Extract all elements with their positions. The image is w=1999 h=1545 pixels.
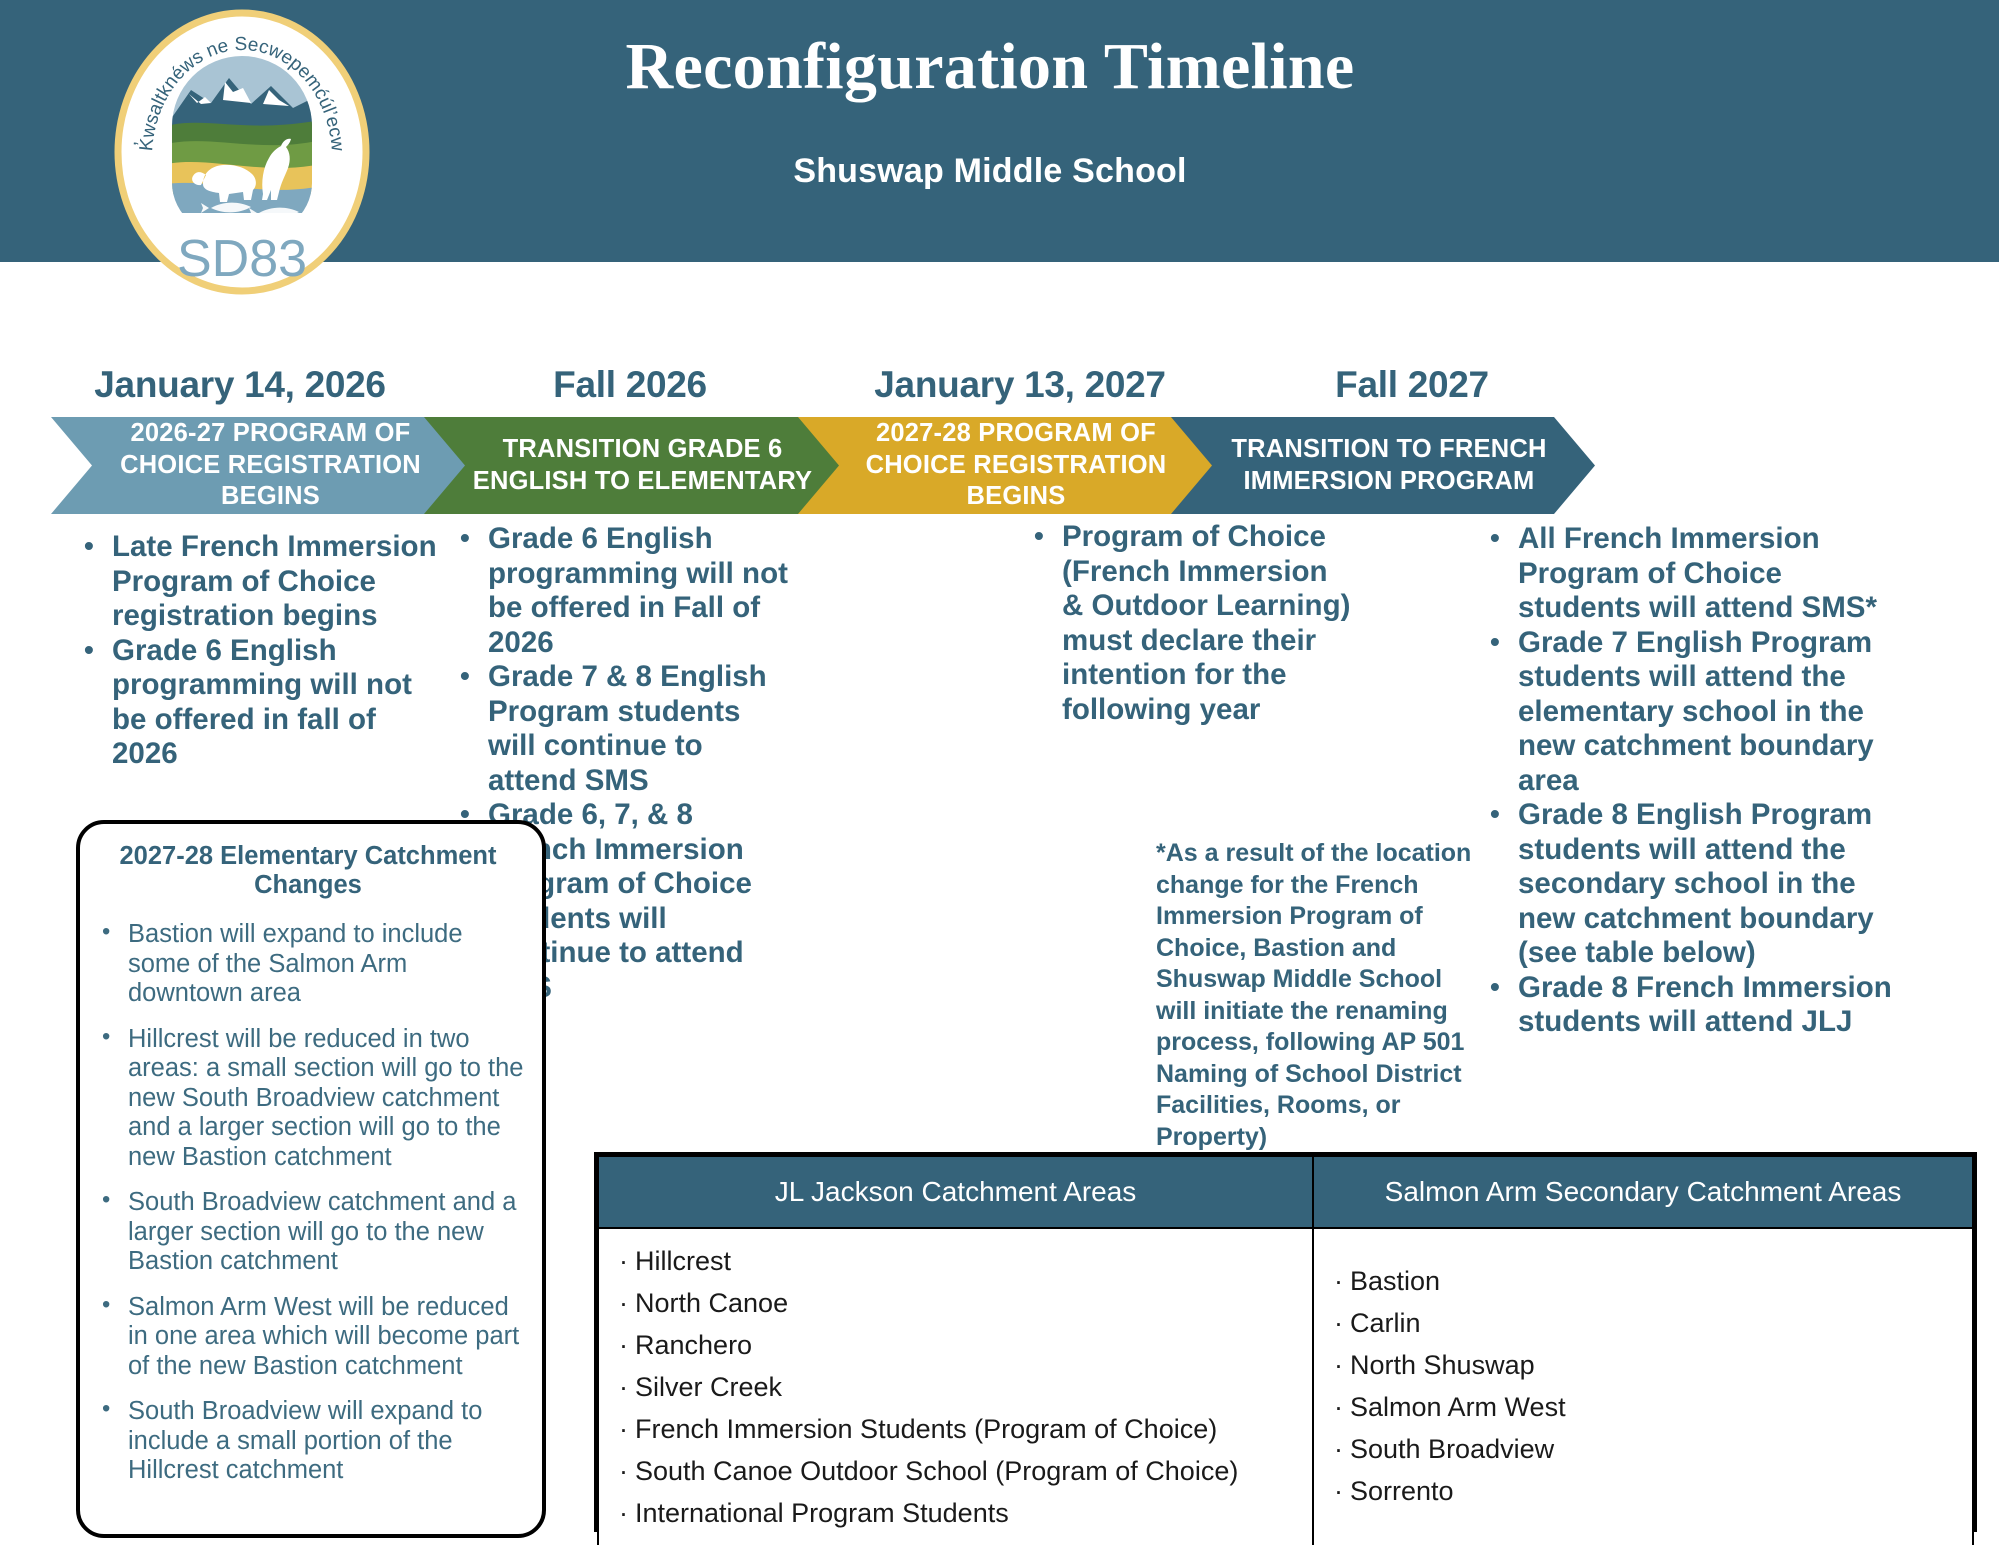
list-item: Program of Choice (French Immersion & Ou… xyxy=(1026,520,1356,727)
timeline-date-0: January 14, 2026 xyxy=(50,364,430,406)
timeline-banner-3[interactable]: TRANSITION TO FRENCH IMMERSION PROGRAM xyxy=(1171,417,1595,514)
sd83-logo: K̓wsaltknéws ne Secwepemćúl’ecw SD83 xyxy=(111,8,373,296)
list-item: South Broadview will expand to include a… xyxy=(88,1397,528,1486)
infographic-page: Reconfiguration Timeline Shuswap Middle … xyxy=(0,0,1999,1545)
list-item: ·North Canoe xyxy=(619,1287,1292,1319)
table-header-salmon-arm-secondary: Salmon Arm Secondary Catchment Areas xyxy=(1313,1156,1973,1228)
bullet-dot-icon: · xyxy=(619,1330,628,1360)
bullet-dot-icon: · xyxy=(1334,1266,1343,1296)
bullet-dot-icon: · xyxy=(1334,1476,1343,1506)
bullet-dot-icon: · xyxy=(1334,1434,1343,1464)
list-item: Grade 7 & 8 English Program students wil… xyxy=(452,660,792,798)
bullet-dot-icon: · xyxy=(1334,1350,1343,1380)
timeline-date-1: Fall 2026 xyxy=(440,364,820,406)
stage-2-bullets: Program of Choice (French Immersion & Ou… xyxy=(1026,520,1356,727)
timeline-banner-label-2: 2027-28 PROGRAM OF CHOICE REGISTRATION B… xyxy=(798,418,1222,513)
list-item: ·International Program Students xyxy=(619,1497,1292,1529)
bullet-dot-icon: · xyxy=(1334,1392,1343,1422)
timeline-banner-label-3: TRANSITION TO FRENCH IMMERSION PROGRAM xyxy=(1171,434,1595,497)
bullet-dot-icon: · xyxy=(619,1288,628,1318)
list-item: Grade 6 English programming will not be … xyxy=(76,634,448,772)
list-item: ·French Immersion Students (Program of C… xyxy=(619,1413,1292,1445)
list-item: Salmon Arm West will be reduced in one a… xyxy=(88,1293,528,1382)
list-item: Bastion will expand to include some of t… xyxy=(88,920,528,1009)
catchment-areas-table: JL Jackson Catchment Areas Salmon Arm Se… xyxy=(594,1152,1977,1532)
list-item: ·Silver Creek xyxy=(619,1371,1292,1403)
bullet-dot-icon: · xyxy=(619,1498,628,1528)
table-header-row: JL Jackson Catchment Areas Salmon Arm Se… xyxy=(598,1156,1973,1228)
list-item: ·Sorrento xyxy=(1334,1475,1952,1507)
list-item: Grade 8 French Immersion students will a… xyxy=(1482,971,1912,1040)
page-subtitle: Shuswap Middle School xyxy=(520,152,1460,191)
footnote-text: *As a result of the location change for … xyxy=(1156,838,1476,1153)
stage-3-bullets: All French Immersion Program of Choice s… xyxy=(1482,522,1912,1040)
svg-text:SD83: SD83 xyxy=(177,230,307,288)
list-item: All French Immersion Program of Choice s… xyxy=(1482,522,1912,626)
bullet-dot-icon: · xyxy=(619,1414,628,1444)
bullet-dot-icon: · xyxy=(619,1456,628,1486)
list-item: ·South Canoe Outdoor School (Program of … xyxy=(619,1455,1292,1487)
list-item: ·Carlin xyxy=(1334,1307,1952,1339)
list-item: ·Hillcrest xyxy=(619,1245,1292,1277)
list-item: ·North Shuswap xyxy=(1334,1349,1952,1381)
table-cell-jl-jackson-areas: ·Hillcrest ·North Canoe ·Ranchero ·Silve… xyxy=(598,1228,1313,1545)
timeline-banner-1[interactable]: TRANSITION GRADE 6 ENGLISH TO ELEMENTARY xyxy=(424,417,847,514)
catchment-changes-box: 2027-28 Elementary Catchment Changes Bas… xyxy=(76,820,546,1538)
bullet-dot-icon: · xyxy=(619,1372,628,1402)
timeline-banner-2[interactable]: 2027-28 PROGRAM OF CHOICE REGISTRATION B… xyxy=(798,417,1222,514)
list-item: ·Bastion xyxy=(1334,1265,1952,1297)
list-item: Grade 6 English programming will not be … xyxy=(452,522,792,660)
bullet-dot-icon: · xyxy=(619,1246,628,1276)
list-item: ·Salmon Arm West xyxy=(1334,1391,1952,1423)
timeline-banner-0[interactable]: 2026-27 PROGRAM OF CHOICE REGISTRATION B… xyxy=(51,417,474,514)
table-cell-salmon-arm-areas: ·Bastion ·Carlin ·North Shuswap ·Salmon … xyxy=(1313,1228,1973,1545)
list-item: South Broadview catchment and a larger s… xyxy=(88,1188,528,1277)
list-item: Grade 8 English Program students will at… xyxy=(1482,798,1912,971)
list-item: ·Ranchero xyxy=(619,1329,1292,1361)
list-item: ·South Broadview xyxy=(1334,1433,1952,1465)
timeline-banner-label-1: TRANSITION GRADE 6 ENGLISH TO ELEMENTARY xyxy=(424,434,847,497)
timeline-banner-label-0: 2026-27 PROGRAM OF CHOICE REGISTRATION B… xyxy=(51,418,474,513)
bullet-dot-icon: · xyxy=(1334,1308,1343,1338)
table-header-jl-jackson: JL Jackson Catchment Areas xyxy=(598,1156,1313,1228)
timeline-date-2: January 13, 2027 xyxy=(830,364,1210,406)
list-item: Grade 7 English Program students will at… xyxy=(1482,626,1912,799)
list-item: Hillcrest will be reduced in two areas: … xyxy=(88,1025,528,1173)
stage-0-bullets: Late French Immersion Program of Choice … xyxy=(76,530,448,772)
timeline-date-3: Fall 2027 xyxy=(1222,364,1602,406)
page-title: Reconfiguration Timeline xyxy=(520,32,1460,101)
table-row: ·Hillcrest ·North Canoe ·Ranchero ·Silve… xyxy=(598,1228,1973,1545)
catchment-changes-title: 2027-28 Elementary Catchment Changes xyxy=(88,842,528,900)
list-item: Late French Immersion Program of Choice … xyxy=(76,530,448,634)
